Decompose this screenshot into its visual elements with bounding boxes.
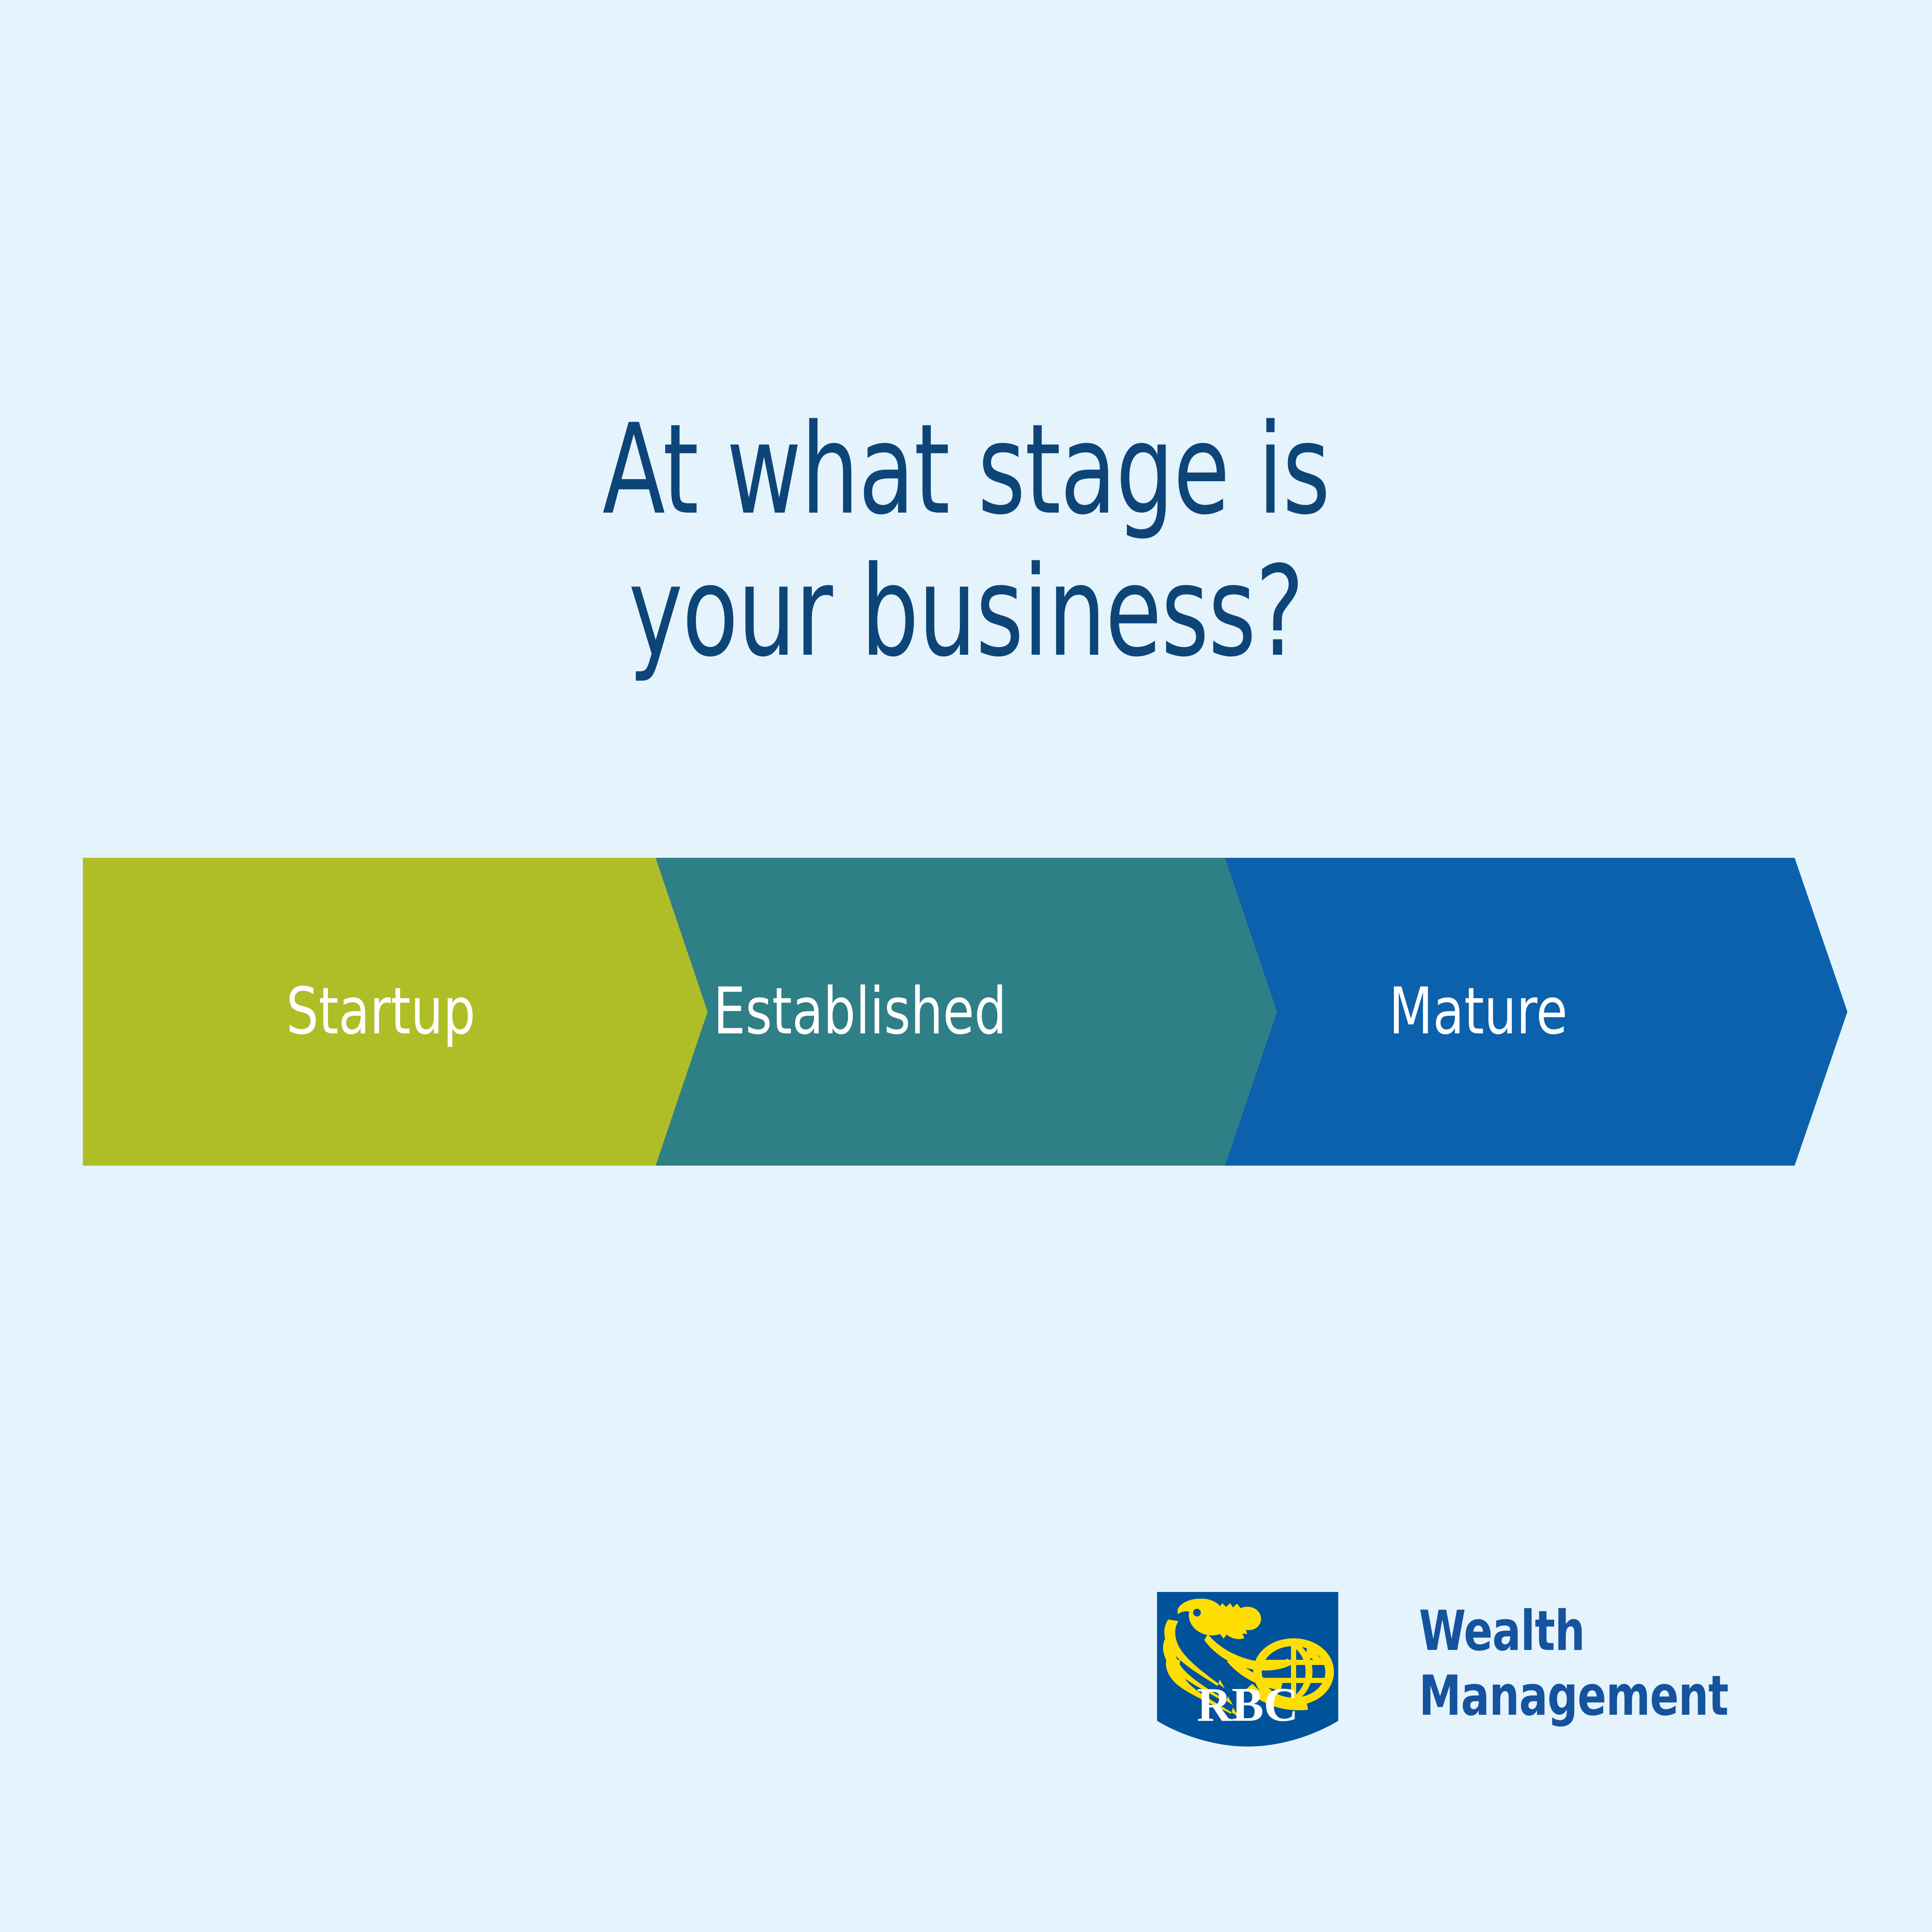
rbc-wordmark: RBC [1197, 1678, 1298, 1732]
page-title-line-1: At what stage is [174, 399, 1758, 541]
rbc-logo[interactable]: RBC [1157, 1592, 1338, 1747]
poster-canvas: At what stage is your business? Startup … [0, 0, 1932, 1932]
brand-name-line-2: Management [1419, 1664, 1728, 1728]
brand-name-line-1: Wealth [1419, 1599, 1728, 1664]
stage-label-startup[interactable]: Startup [203, 858, 558, 1166]
brand-lockup: RBC Wealth Management [1157, 1592, 1629, 1781]
page-title: At what stage is your business? [174, 399, 1758, 683]
page-title-line-2: your business? [174, 541, 1758, 683]
stage-label-mature[interactable]: Mature [1278, 858, 1679, 1166]
rbc-lion-globe-shield-icon: RBC [1157, 1592, 1338, 1747]
brand-name: Wealth Management [1419, 1599, 1728, 1728]
stage-label-established[interactable]: Established [663, 858, 1056, 1166]
stage-progression-band: Startup Established Mature [83, 858, 1847, 1166]
